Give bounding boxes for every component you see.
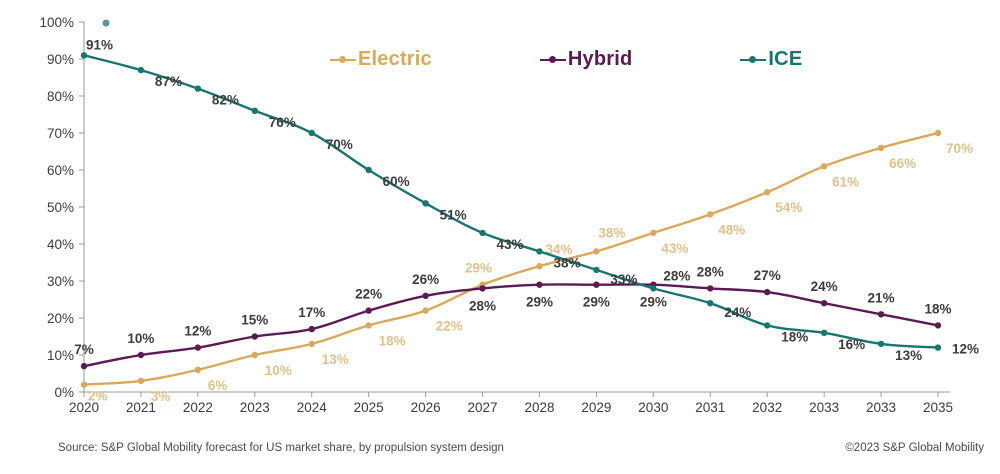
data-label: 38% <box>598 225 625 240</box>
data-point <box>707 211 713 217</box>
data-point <box>138 67 144 73</box>
data-point <box>536 248 542 254</box>
source-note: Source: S&P Global Mobility forecast for… <box>58 442 504 454</box>
data-label: 2% <box>88 389 108 404</box>
x-axis-tick-label: 2030 <box>638 400 668 415</box>
x-axis-tick-label: 2025 <box>354 400 384 415</box>
data-point <box>479 285 485 291</box>
data-point <box>593 267 599 273</box>
data-label: 28% <box>663 268 690 283</box>
data-point <box>252 352 258 358</box>
x-axis-tick-label: 2035 <box>923 400 953 415</box>
data-point <box>138 378 144 384</box>
legend-label-electric: Electric <box>358 48 432 71</box>
data-point <box>365 167 371 173</box>
data-point <box>536 282 542 288</box>
data-label: 18% <box>379 333 406 348</box>
data-label: 61% <box>832 174 859 189</box>
data-point <box>935 130 941 136</box>
legend-swatch-ice-icon <box>740 53 766 67</box>
data-label: 33% <box>610 272 637 287</box>
y-axis-tick-label: 40% <box>47 237 74 252</box>
data-label: 17% <box>298 305 325 320</box>
x-axis-tick-label: 2028 <box>524 400 554 415</box>
data-label: 60% <box>383 174 410 189</box>
data-label: 24% <box>724 305 751 320</box>
data-point <box>707 285 713 291</box>
y-axis-tick-label: 50% <box>47 200 74 215</box>
data-point <box>81 381 87 387</box>
data-label: 15% <box>241 313 268 328</box>
data-label: 70% <box>326 137 353 152</box>
data-label: 22% <box>355 287 382 302</box>
y-axis-tick-label: 100% <box>39 15 74 30</box>
x-axis-tick-label: 2033 <box>866 400 896 415</box>
data-point <box>422 307 428 313</box>
data-point <box>309 326 315 332</box>
data-label: 18% <box>781 329 808 344</box>
data-label: 28% <box>469 298 496 313</box>
data-label: 10% <box>127 331 154 346</box>
y-axis-tick-label: 70% <box>47 126 74 141</box>
data-point <box>195 367 201 373</box>
data-point <box>821 300 827 306</box>
stray-marker <box>103 20 110 27</box>
legend-item-electric[interactable]: Electric <box>330 48 432 71</box>
series-line-hybrid <box>84 284 938 366</box>
data-label: 13% <box>322 352 349 367</box>
data-label: 13% <box>895 348 922 363</box>
data-point <box>935 344 941 350</box>
data-point <box>878 311 884 317</box>
y-axis-tick-label: 90% <box>47 52 74 67</box>
x-axis-tick-label: 2032 <box>752 400 782 415</box>
data-point <box>650 230 656 236</box>
y-axis-tick-label: 20% <box>47 311 74 326</box>
data-label: 28% <box>697 264 724 279</box>
data-point <box>764 322 770 328</box>
chart-footer: Source: S&P Global Mobility forecast for… <box>0 442 1000 458</box>
data-label: 10% <box>265 363 292 378</box>
data-label: 29% <box>526 295 553 310</box>
series-ice: 91%87%82%76%70%60%51%43%38%33%28%24%18%1… <box>81 37 979 363</box>
data-label: 18% <box>924 301 951 316</box>
x-axis-tick-label: 2031 <box>695 400 725 415</box>
data-label: 48% <box>718 222 745 237</box>
x-axis-tick-label: 2023 <box>240 400 270 415</box>
y-axis-tick-label: 10% <box>47 348 74 363</box>
data-label: 12% <box>952 342 979 357</box>
series-hybrid: 7%10%12%15%17%22%26%28%29%29%29%28%27%24… <box>74 264 951 369</box>
x-axis-tick-label: 2027 <box>468 400 498 415</box>
data-label: 27% <box>754 268 781 283</box>
data-point <box>821 330 827 336</box>
data-point <box>593 282 599 288</box>
data-point <box>81 52 87 58</box>
data-label: 26% <box>412 272 439 287</box>
legend-swatch-hybrid-icon <box>540 53 566 67</box>
legend-item-hybrid[interactable]: Hybrid <box>540 48 633 71</box>
legend-item-ice[interactable]: ICE <box>740 48 802 71</box>
data-point <box>935 322 941 328</box>
legend-label-hybrid: Hybrid <box>568 48 633 71</box>
legend-swatch-electric-icon <box>330 53 356 67</box>
x-axis-tick-label: 2024 <box>297 400 328 415</box>
data-point <box>821 163 827 169</box>
data-point <box>422 293 428 299</box>
data-point <box>764 189 770 195</box>
y-axis-tick-label: 60% <box>47 163 74 178</box>
data-point <box>878 341 884 347</box>
data-point <box>764 289 770 295</box>
data-label: 29% <box>640 295 667 310</box>
x-axis-tick-label: 2026 <box>411 400 441 415</box>
data-label: 66% <box>889 156 916 171</box>
data-point <box>365 307 371 313</box>
data-label: 16% <box>838 337 865 352</box>
data-label: 43% <box>497 237 524 252</box>
data-label: 51% <box>440 207 467 222</box>
data-label: 3% <box>151 389 171 404</box>
legend-label-ice: ICE <box>768 48 802 71</box>
y-axis-tick-label: 30% <box>47 274 74 289</box>
data-point <box>707 300 713 306</box>
data-label: 87% <box>155 74 182 89</box>
data-point <box>195 85 201 91</box>
data-label: 21% <box>868 290 895 305</box>
data-point <box>479 230 485 236</box>
x-axis-tick-label: 2022 <box>183 400 213 415</box>
data-label: 38% <box>553 255 580 270</box>
data-label: 76% <box>269 115 296 130</box>
data-label: 29% <box>465 261 492 276</box>
data-label: 91% <box>86 37 113 52</box>
data-label: 29% <box>583 295 610 310</box>
data-label: 54% <box>775 200 802 215</box>
chart-legend: Electric Hybrid ICE <box>330 48 802 71</box>
data-point <box>593 248 599 254</box>
data-point <box>81 363 87 369</box>
chart-container: 0%10%20%30%40%50%60%70%80%90%100%2020202… <box>0 0 1000 474</box>
x-axis-tick-label: 2033 <box>809 400 839 415</box>
y-axis-tick-label: 80% <box>47 89 74 104</box>
data-label: 70% <box>946 141 973 156</box>
line-chart-plot: 0%10%20%30%40%50%60%70%80%90%100%2020202… <box>0 0 1000 474</box>
data-point <box>195 344 201 350</box>
data-label: 12% <box>184 324 211 339</box>
data-label: 82% <box>212 93 239 108</box>
data-label: 43% <box>661 241 688 256</box>
copyright-note: ©2023 S&P Global Mobility <box>845 442 984 454</box>
series-electric: 2%3%6%10%13%18%22%29%34%38%43%48%54%61%6… <box>81 130 973 404</box>
data-label: 24% <box>811 279 838 294</box>
series-line-electric <box>84 133 938 385</box>
data-point <box>536 263 542 269</box>
data-point <box>365 322 371 328</box>
data-point <box>252 108 258 114</box>
y-axis-tick-label: 0% <box>54 385 74 400</box>
data-point <box>252 333 258 339</box>
data-label: 7% <box>74 342 94 357</box>
x-axis-tick-label: 2029 <box>581 400 611 415</box>
data-point <box>309 341 315 347</box>
data-label: 6% <box>208 378 228 393</box>
data-point <box>878 145 884 151</box>
data-point <box>650 285 656 291</box>
data-point <box>422 200 428 206</box>
data-point <box>138 352 144 358</box>
data-point <box>309 130 315 136</box>
data-label: 22% <box>436 319 463 334</box>
